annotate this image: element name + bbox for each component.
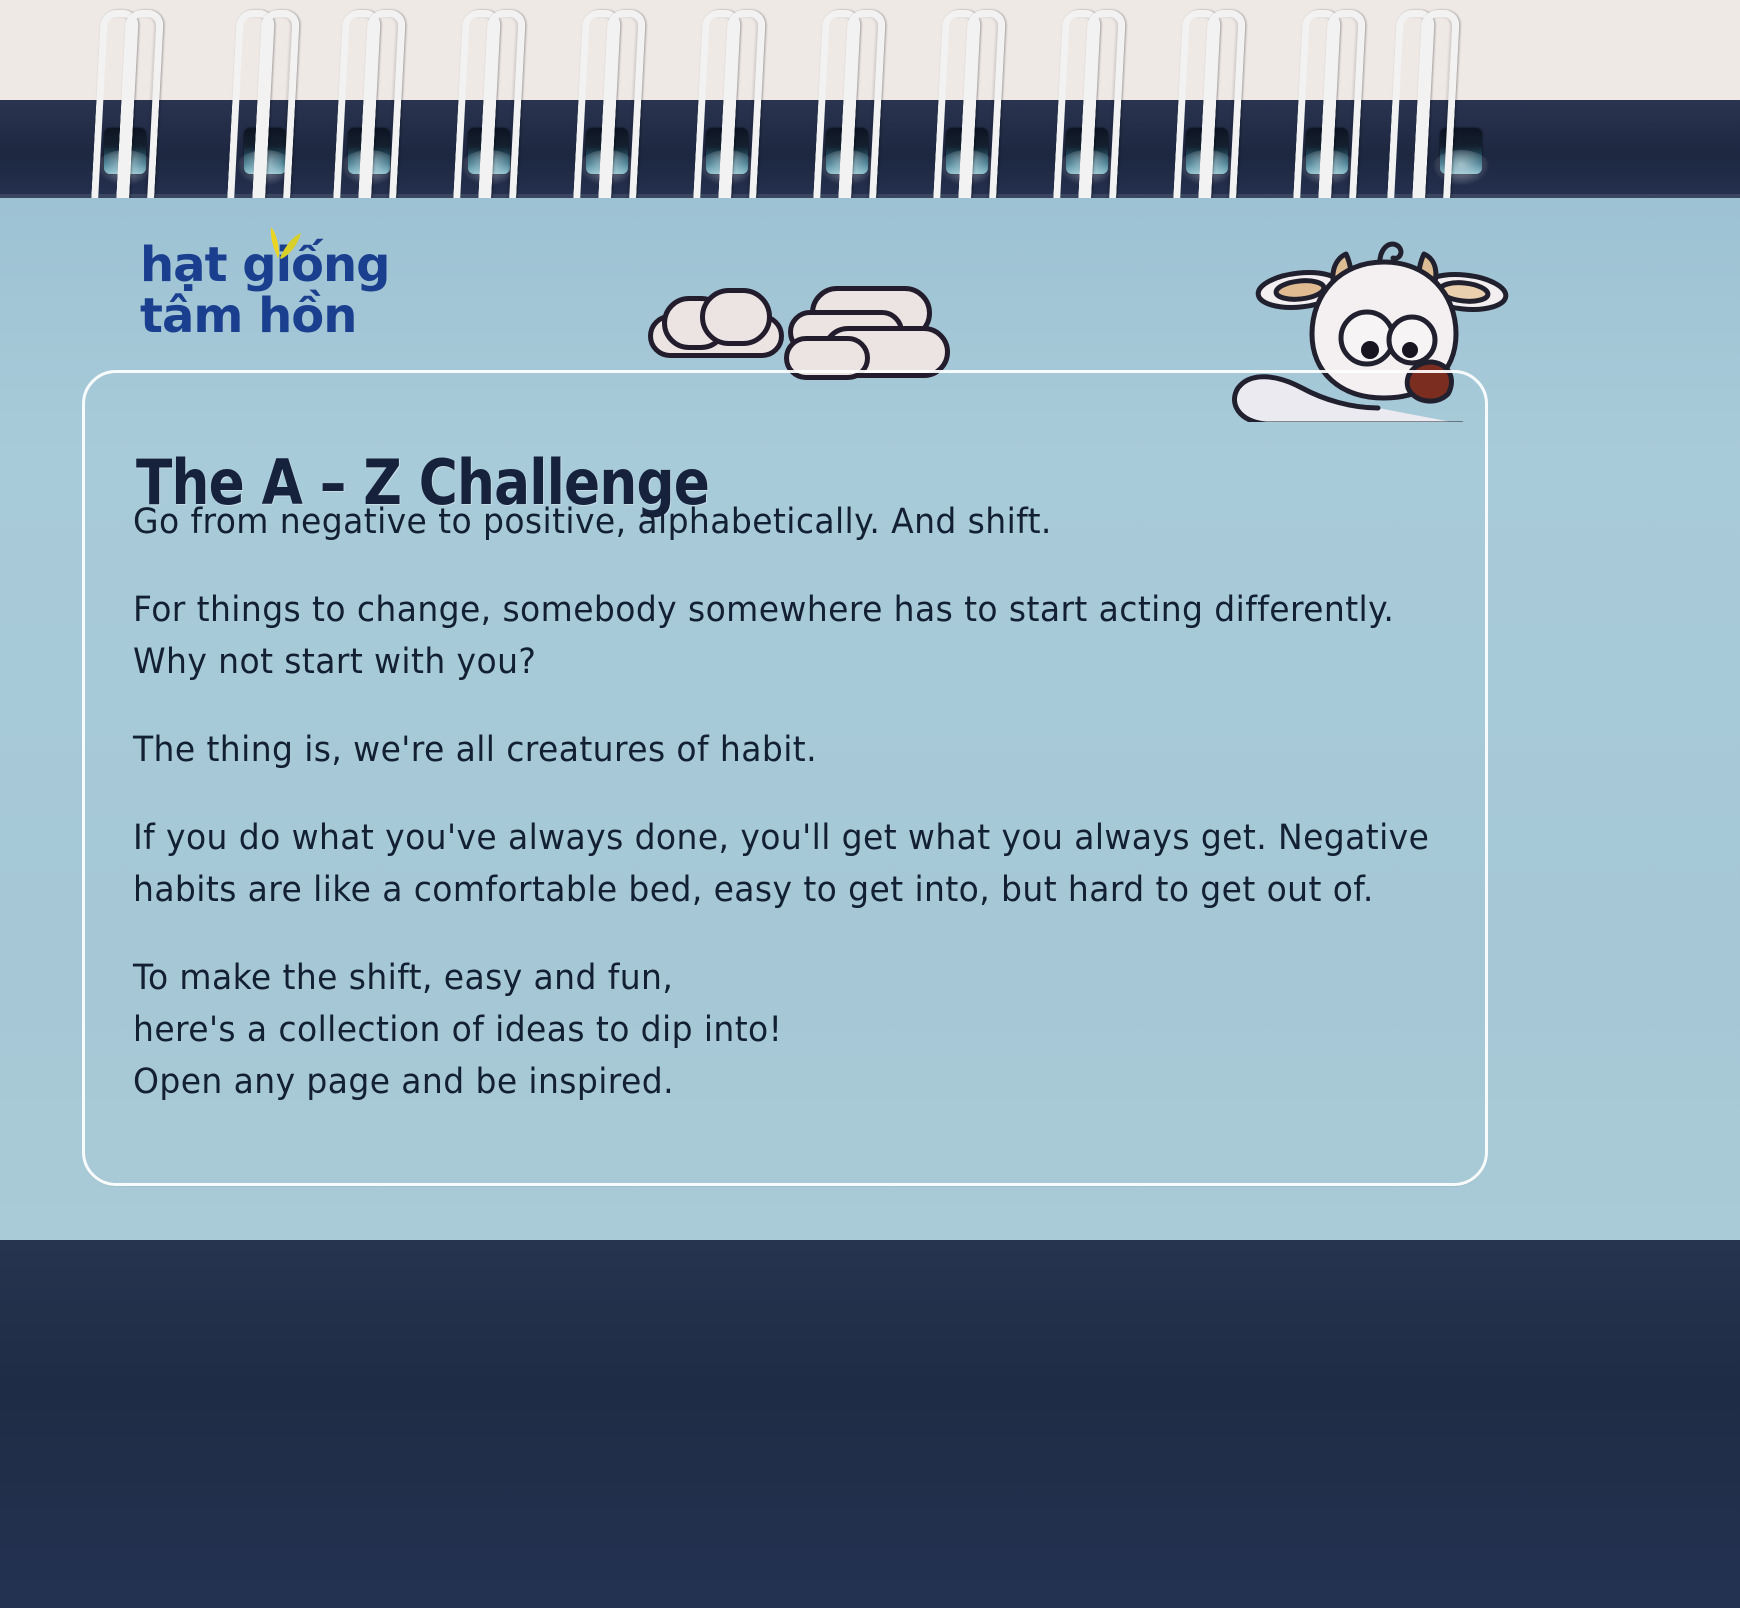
brand-line-2: tâm hồn [140, 290, 410, 342]
leaf-icon [258, 224, 302, 260]
paragraph-3: The thing is, we're all creatures of hab… [133, 723, 1463, 775]
paragraph-2: For things to change, somebody somewhere… [133, 583, 1463, 687]
paragraph-7: Open any page and be inspired. [133, 1055, 1463, 1107]
brand-logo: hạt giống tâm hồn [140, 240, 410, 360]
cloud-icon [648, 288, 776, 350]
paragraph-5: To make the shift, easy and fun, [133, 951, 1463, 1003]
footer: Inner Space Center 30, Street No. 7, Qua… [0, 1240, 1740, 1608]
paragraph-1: Go from negative to positive, alphabetic… [133, 495, 1463, 547]
body-copy: Go from negative to positive, alphabetic… [133, 495, 1463, 1107]
paragraph-4: If you do what you've always done, you'l… [133, 811, 1463, 915]
calendar-page: hạt giống tâm hồn [0, 0, 1740, 1608]
paragraph-6: here's a collection of ideas to dip into… [133, 1003, 1463, 1055]
cloud-icon [784, 286, 942, 372]
